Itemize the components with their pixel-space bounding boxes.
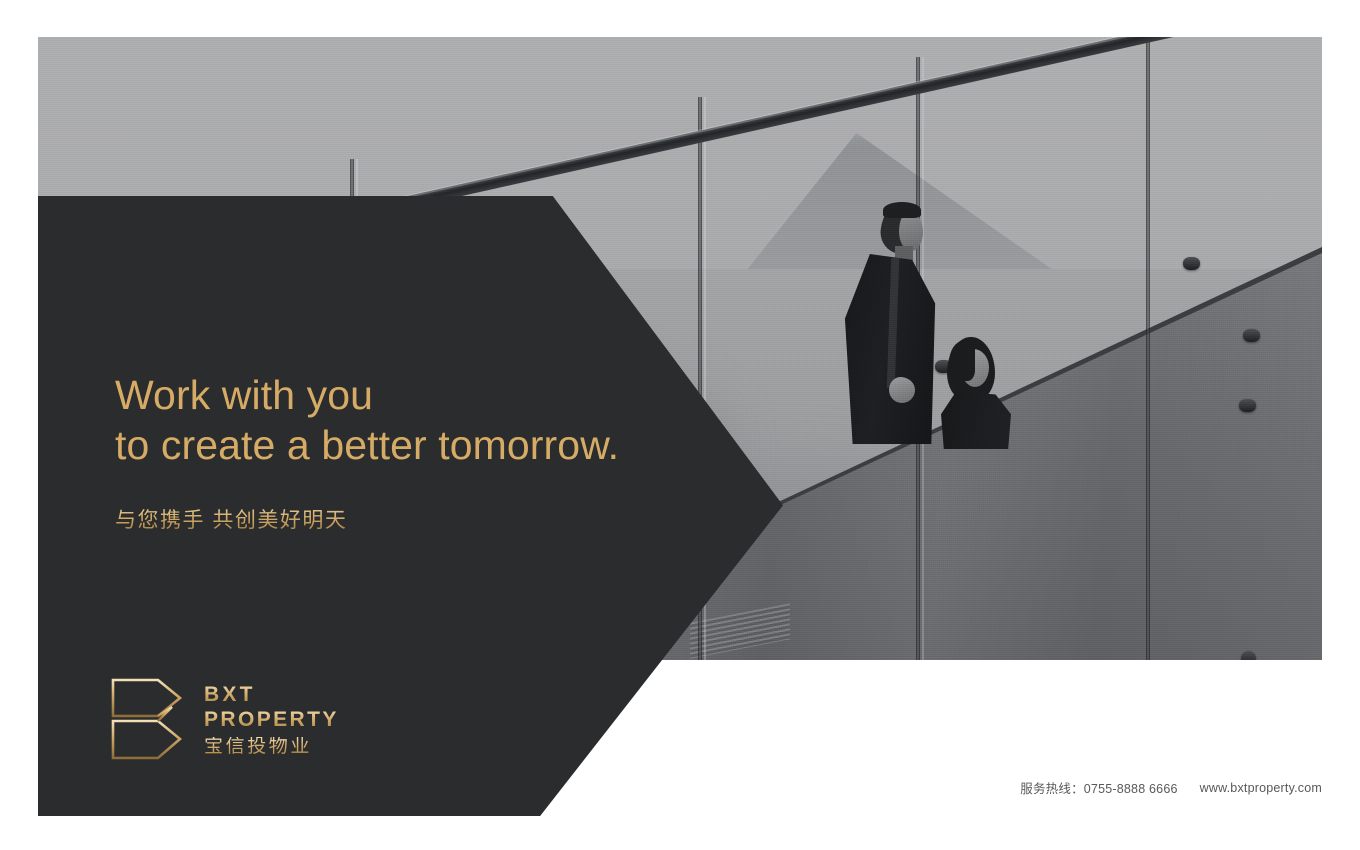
website-url[interactable]: www.bxtproperty.com <box>1200 781 1322 795</box>
hero-copy-block: Work with you to create a better tomorro… <box>115 370 675 534</box>
brand-name-line1: BXT <box>204 684 339 705</box>
woman-body <box>941 391 1011 449</box>
glass-mullion <box>1146 37 1150 660</box>
man-hair <box>883 202 921 218</box>
service-hotline: 服务热线：0755-8888 6666 <box>1020 778 1177 797</box>
footer-contact-bar: 服务热线：0755-8888 6666 www.bxtproperty.com <box>1020 778 1322 797</box>
poster-canvas: Work with you to create a better tomorro… <box>0 0 1360 850</box>
glass-standoff-knob <box>1239 399 1256 412</box>
glass-standoff-knob <box>1241 651 1256 660</box>
page-subtitle: 与您携手 共创美好明天 <box>115 504 675 534</box>
glass-standoff-knob <box>1183 257 1200 270</box>
person-man <box>843 202 939 442</box>
brand-logo: BXT PROPERTY 宝信投物业 <box>110 677 339 761</box>
brand-name-line2: PROPERTY <box>204 709 339 730</box>
page-title: Work with you to create a better tomorro… <box>115 370 675 470</box>
woman-hair-front <box>949 341 975 381</box>
bxt-b-monogram-icon <box>110 677 184 761</box>
man-hand <box>889 377 915 403</box>
brand-name-chinese: 宝信投物业 <box>204 737 339 756</box>
brand-wordmark: BXT PROPERTY 宝信投物业 <box>204 682 339 756</box>
person-woman <box>941 337 1011 449</box>
glass-standoff-knob <box>1243 329 1260 342</box>
